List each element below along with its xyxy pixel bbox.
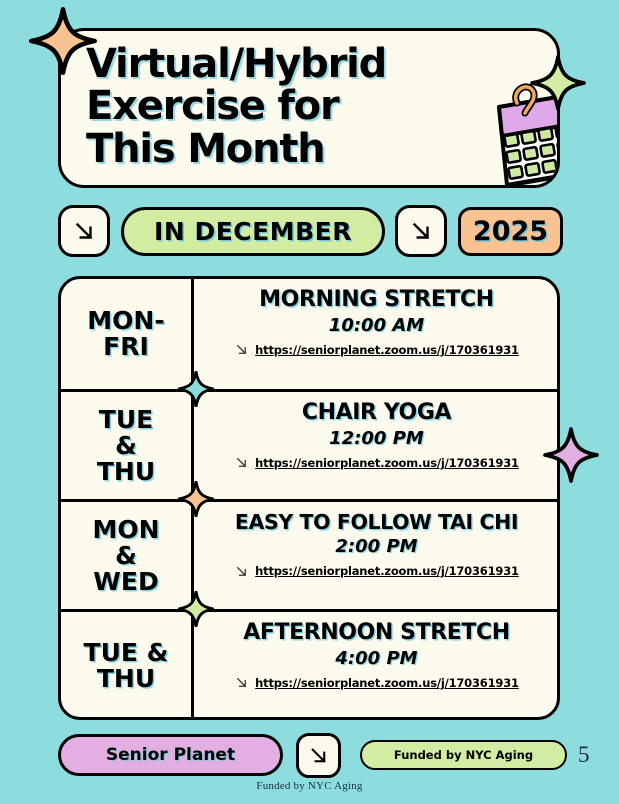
sparkle-top-right-icon [531, 56, 585, 110]
day-cell: MON- FRI [61, 279, 194, 389]
page-title: Virtual/Hybrid Exercise for This Month [86, 43, 466, 170]
class-info-cell: AFTERNOON STRETCH 4:00 PM https://senior… [194, 612, 557, 719]
day-line: & [115, 541, 137, 570]
day-line: WED [93, 567, 158, 596]
day-line: MON- [87, 306, 164, 335]
sparkle-mid-right-icon [544, 428, 598, 482]
brand-label: Senior Planet [106, 745, 235, 765]
class-title: CHAIR YOGA [208, 401, 545, 426]
class-title: EASY TO FOLLOW TAI CHI [208, 511, 545, 534]
zoom-link[interactable]: https://seniorplanet.zoom.us/j/170361931 [255, 676, 519, 690]
schedule-table: MON- FRI MORNING STRETCH 10:00 AM https:… [58, 276, 560, 720]
class-time: 12:00 PM [208, 429, 545, 449]
class-info-cell: MORNING STRETCH 10:00 AM https://seniorp… [194, 279, 557, 389]
arrow-down-right-icon [234, 675, 249, 690]
sparkle-top-left-icon [30, 8, 96, 74]
funding-badge: Funded by NYC Aging [360, 740, 567, 770]
sparkle-divider-3-icon [178, 591, 214, 627]
table-row[interactable]: MON- FRI MORNING STRETCH 10:00 AM https:… [61, 279, 557, 389]
class-time: 10:00 AM [208, 316, 545, 336]
arrow-down-right-glyph [408, 218, 434, 244]
date-bar: IN DECEMBER 2025 [58, 203, 568, 261]
page-number: 5 [578, 742, 590, 768]
table-row[interactable]: TUE & THU AFTERNOON STRETCH 4:00 PM http… [61, 609, 557, 719]
bottom-funding-note: Funded by NYC Aging [0, 780, 619, 792]
arrow-down-right-icon-2[interactable] [395, 205, 447, 257]
arrow-down-right-icon-footer[interactable] [296, 733, 341, 778]
day-cell: MON & WED [61, 502, 194, 609]
arrow-down-right-glyph [307, 744, 330, 767]
arrow-down-right-icon [234, 455, 249, 470]
day-cell: TUE & THU [61, 392, 194, 499]
arrow-down-right-icon [234, 564, 249, 579]
zoom-link[interactable]: https://seniorplanet.zoom.us/j/170361931 [255, 456, 519, 470]
day-line: FRI [103, 332, 149, 361]
zoom-link[interactable]: https://seniorplanet.zoom.us/j/170361931 [255, 343, 519, 357]
class-info-cell: EASY TO FOLLOW TAI CHI 2:00 PM https://s… [194, 502, 557, 609]
class-link-row[interactable]: https://seniorplanet.zoom.us/j/170361931 [208, 675, 545, 690]
day-line: THU [97, 664, 155, 693]
page-title-line-3: This Month [86, 128, 466, 170]
class-time: 2:00 PM [208, 537, 545, 557]
class-link-row[interactable]: https://seniorplanet.zoom.us/j/170361931 [208, 455, 545, 470]
arrow-down-right-icon [234, 342, 249, 357]
day-line: TUE & [84, 638, 169, 667]
footer: Senior Planet Funded by NYC Aging 5 [58, 734, 603, 780]
sparkle-divider-1-icon [178, 371, 214, 407]
month-label: IN DECEMBER [154, 217, 352, 246]
page-title-line-2: Exercise for [86, 85, 466, 127]
class-title: AFTERNOON STRETCH [208, 621, 545, 646]
sparkle-divider-2-icon [178, 481, 214, 517]
day-line: & [115, 431, 137, 460]
class-time: 4:00 PM [208, 649, 545, 669]
class-info-cell: CHAIR YOGA 12:00 PM https://seniorplanet… [194, 392, 557, 499]
day-line: MON [92, 515, 159, 544]
day-line: TUE [99, 405, 153, 434]
arrow-down-right-glyph [71, 218, 97, 244]
month-badge: IN DECEMBER [121, 207, 385, 256]
zoom-link[interactable]: https://seniorplanet.zoom.us/j/170361931 [255, 564, 519, 578]
day-cell: TUE & THU [61, 612, 194, 719]
year-label: 2025 [473, 216, 548, 247]
year-badge: 2025 [458, 207, 563, 256]
table-row[interactable]: MON & WED EASY TO FOLLOW TAI CHI 2:00 PM… [61, 499, 557, 609]
header-card: Virtual/Hybrid Exercise for This Month [58, 28, 560, 188]
table-row[interactable]: TUE & THU CHAIR YOGA 12:00 PM https://se… [61, 389, 557, 499]
day-line: THU [97, 457, 155, 486]
page-title-line-1: Virtual/Hybrid [86, 43, 466, 85]
class-link-row[interactable]: https://seniorplanet.zoom.us/j/170361931 [208, 342, 545, 357]
arrow-down-right-icon-1[interactable] [58, 205, 110, 257]
class-link-row[interactable]: https://seniorplanet.zoom.us/j/170361931 [208, 564, 545, 579]
class-title: MORNING STRETCH [208, 288, 545, 313]
poster-page: Virtual/Hybrid Exercise for This Month [0, 0, 619, 804]
brand-badge-senior-planet[interactable]: Senior Planet [58, 734, 283, 776]
funding-label: Funded by NYC Aging [394, 748, 533, 762]
